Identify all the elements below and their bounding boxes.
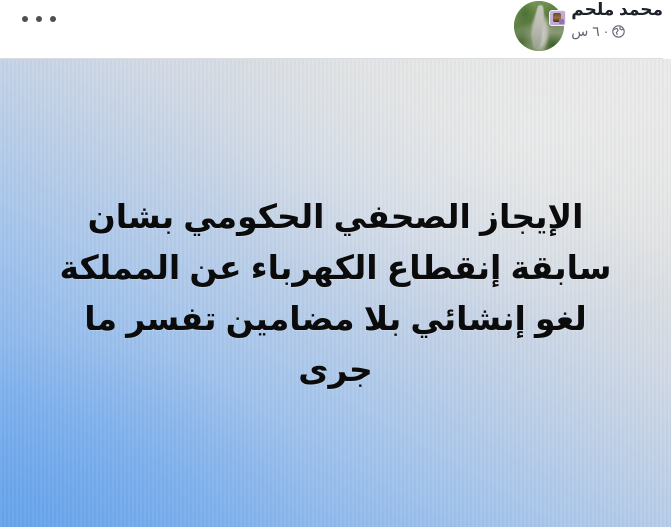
author-name[interactable]: محمد ملحم xyxy=(571,0,663,20)
post-image-text: الإيجاز الصحفي الحكومي بشان سابقة إنقطاع… xyxy=(0,191,671,395)
ellipsis-dot xyxy=(36,16,42,22)
avatar-photo xyxy=(514,1,564,51)
avatar-wrapper[interactable] xyxy=(514,1,564,51)
globe-public-icon[interactable] xyxy=(612,25,625,38)
avatar-frame-badge xyxy=(549,10,566,26)
post-text-line-1: الإيجاز الصحفي الحكومي بشان xyxy=(30,191,641,242)
ellipsis-dot xyxy=(22,16,28,22)
facebook-post-screen: محمد ملحم · ٦ س xyxy=(0,0,671,527)
ellipsis-horizontal-icon[interactable] xyxy=(22,8,56,30)
post-meta-row: · ٦ س xyxy=(571,22,625,40)
post-timestamp[interactable]: ٦ س xyxy=(571,22,600,40)
ellipsis-dot xyxy=(50,16,56,22)
post-text-line-4: جرى xyxy=(30,344,641,395)
post-header: محمد ملحم · ٦ س xyxy=(0,0,671,59)
header-right-gutter xyxy=(663,0,671,59)
post-identity: محمد ملحم · ٦ س xyxy=(514,0,663,59)
avatar[interactable] xyxy=(514,1,564,51)
post-image[interactable]: الإيجاز الصحفي الحكومي بشان سابقة إنقطاع… xyxy=(0,59,671,527)
post-text-line-3: لغو إنشائي بلا مضامين تفسر ما xyxy=(30,293,641,344)
meta-separator: · xyxy=(604,22,609,40)
post-text-line-2: سابقة إنقطاع الكهرباء عن المملكة xyxy=(30,242,641,293)
identity-text-block: محمد ملحم · ٦ س xyxy=(571,0,663,40)
